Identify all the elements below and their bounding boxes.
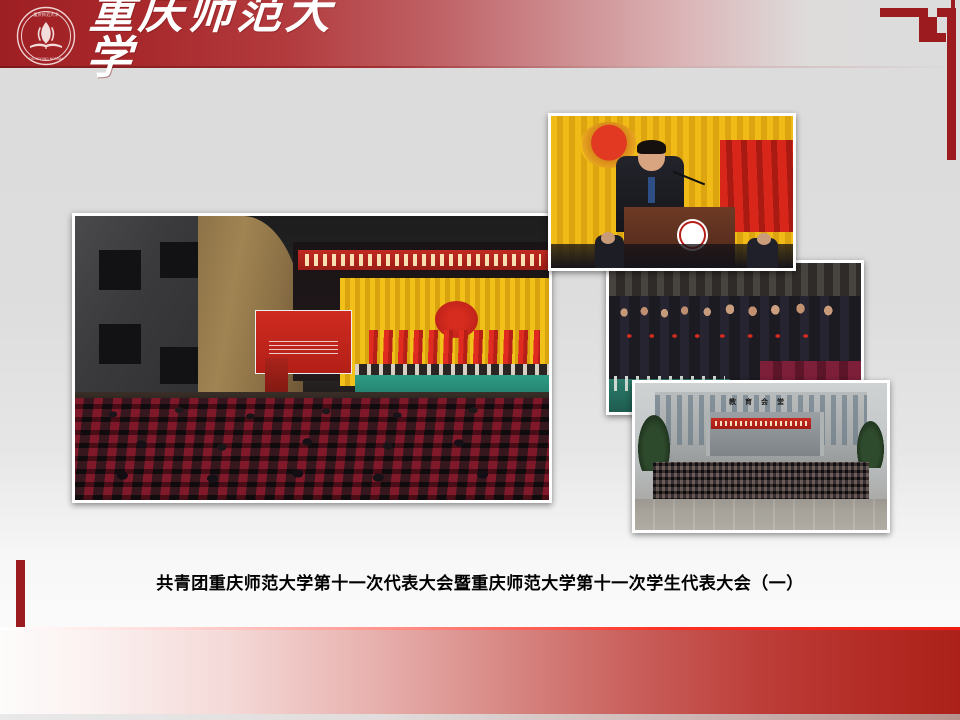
university-wordmark: 重庆师范大学	[88, 6, 338, 64]
caption-text: 共青团重庆师范大学第十一次代表大会暨重庆师范大学第十一次学生代表大会（一）	[156, 569, 804, 594]
university-name-text: 重庆师范大学	[85, 0, 341, 80]
slide-caption: 共青团重庆师范大学第十一次代表大会暨重庆师范大学第十一次学生代表大会（一）	[0, 566, 960, 596]
footer-bottom-edge	[0, 714, 960, 720]
photo-speaker-at-podium[interactable]	[548, 113, 796, 271]
svg-text:重庆师范大学: 重庆师范大学	[33, 11, 58, 18]
chinese-corner-ornament-top-right	[880, 8, 956, 160]
footer-gradient-band	[0, 630, 960, 715]
building-sign-text: 教育会堂	[701, 398, 822, 410]
svg-text:CHONGQING NORMAL: CHONGQING NORMAL	[28, 57, 63, 61]
slide: 重庆师范大学 CHONGQING NORMAL 重庆师范大学	[0, 0, 960, 720]
photo-group-portrait[interactable]: 教育会堂	[632, 380, 890, 533]
photo-auditorium-full-hall[interactable]	[72, 213, 552, 503]
university-logo-icon: 重庆师范大学 CHONGQING NORMAL	[16, 6, 76, 66]
